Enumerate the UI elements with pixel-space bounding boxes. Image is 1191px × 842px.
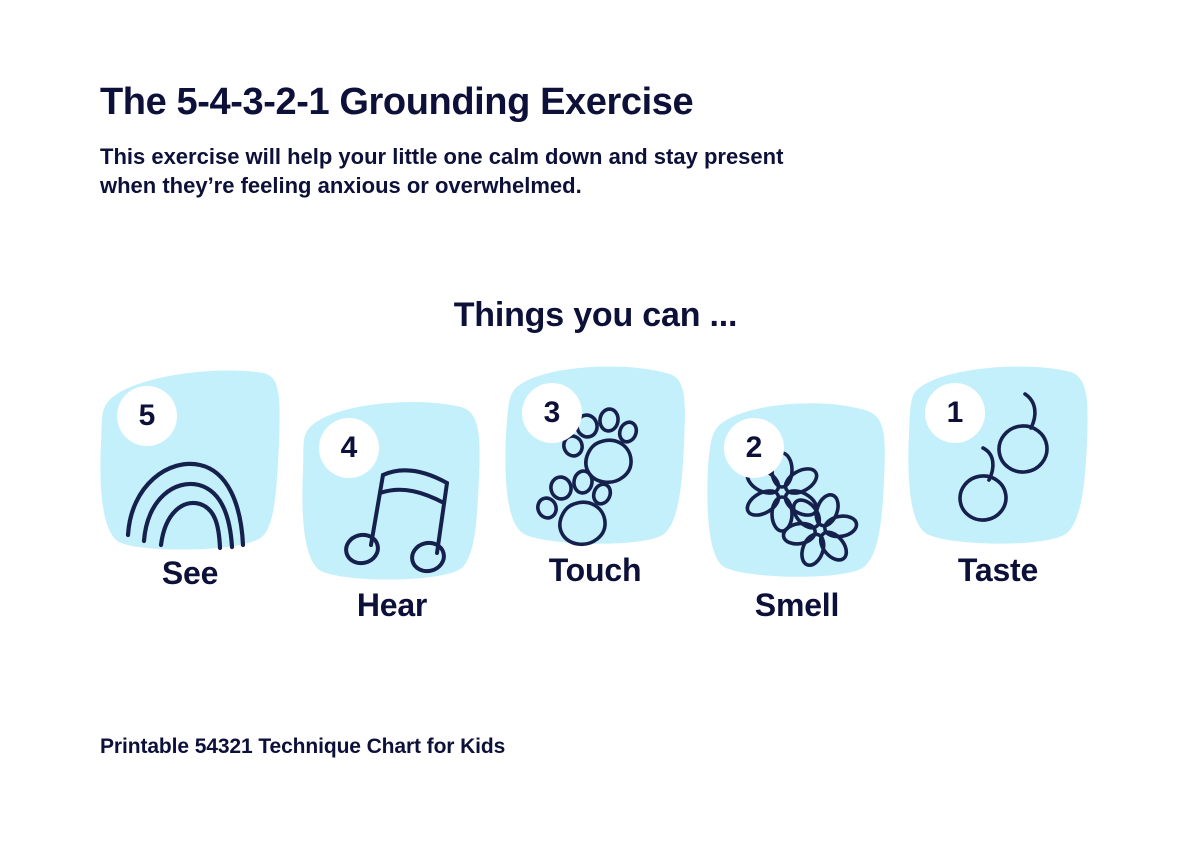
- card-number-badge: 5: [117, 386, 177, 446]
- section-heading: Things you can ...: [0, 296, 1191, 335]
- page-title: The 5-4-3-2-1 Grounding Exercise: [100, 82, 900, 124]
- card-label-touch: Touch: [500, 552, 690, 589]
- header: The 5-4-3-2-1 Grounding Exercise This ex…: [100, 82, 900, 200]
- sense-card-touch[interactable]: 3 Touch: [500, 360, 700, 635]
- rainbow-icon: [125, 455, 250, 550]
- sense-card-hear[interactable]: 4 Hear: [297, 395, 497, 670]
- card-label-taste: Taste: [903, 552, 1093, 589]
- senses-card-row: 5 See 4: [0, 355, 1191, 645]
- card-number-badge: 3: [522, 383, 582, 443]
- card-label-hear: Hear: [297, 587, 487, 624]
- flowers-icon: [750, 460, 855, 565]
- card-label-see: See: [95, 555, 285, 592]
- sense-card-taste[interactable]: 1 Taste: [903, 360, 1103, 635]
- sense-card-see[interactable]: 5 See: [95, 363, 295, 638]
- footer-caption: Printable 54321 Technique Chart for Kids: [100, 735, 505, 759]
- card-number-badge: 2: [724, 418, 784, 478]
- card-number-badge: 4: [319, 418, 379, 478]
- sense-card-smell[interactable]: 2: [702, 395, 902, 670]
- card-label-smell: Smell: [702, 587, 892, 624]
- page-subtitle: This exercise will help your little one …: [100, 142, 815, 200]
- card-number-badge: 1: [925, 383, 985, 443]
